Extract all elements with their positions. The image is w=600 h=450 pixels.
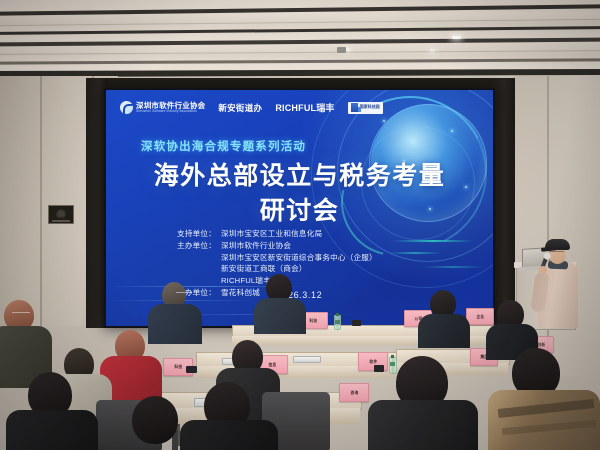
ssia-logo-cn: 深圳市软件行业协会 bbox=[136, 102, 205, 110]
audience-body bbox=[254, 298, 306, 334]
wall-seam bbox=[40, 76, 42, 326]
audience-body bbox=[368, 400, 478, 450]
ceiling-slat bbox=[0, 4, 600, 16]
name-card-text: 科技 bbox=[309, 318, 317, 324]
wall-speaker-fixture bbox=[48, 205, 74, 224]
slide-kicker: 深软协出海合规专题系列活动 bbox=[141, 138, 306, 154]
audience-body bbox=[6, 410, 98, 450]
speaker-glasses bbox=[549, 251, 564, 256]
ceiling-slat bbox=[0, 38, 600, 47]
logo-xinan-subdistrict: 新安街道办 bbox=[218, 102, 262, 114]
building-icon bbox=[351, 103, 358, 112]
speaker-grille-icon bbox=[56, 209, 66, 218]
wall-seam bbox=[547, 76, 549, 376]
ceiling-light bbox=[452, 36, 461, 39]
desk-device bbox=[352, 320, 361, 326]
logo-partner-badge: 国家科技园 bbox=[348, 102, 383, 114]
organizer-value: 深圳市宝安区工业和信息化局 bbox=[216, 228, 322, 240]
water-bottle bbox=[334, 315, 341, 330]
audience-body bbox=[418, 314, 470, 348]
ceiling bbox=[0, 0, 600, 78]
network-dot bbox=[383, 120, 385, 122]
name-card-text: 咨询 bbox=[350, 390, 358, 396]
slide-title-line2: 研讨会 bbox=[106, 191, 493, 227]
partner-badge-text: 国家科技园 bbox=[360, 105, 380, 109]
speaker-hand bbox=[539, 266, 547, 274]
audience-glasses bbox=[176, 292, 192, 297]
ceiling-seam bbox=[0, 19, 600, 26]
organizer-row: 主办单位： 新安街道工商联（商会） bbox=[164, 263, 464, 275]
organizer-row: 主办单位： 深圳市宝安区新安街道综合事务中心（企服） bbox=[164, 252, 464, 264]
desk-device bbox=[374, 365, 384, 372]
ceiling-slat bbox=[0, 58, 600, 64]
audience-body bbox=[148, 304, 202, 344]
network-dot bbox=[451, 130, 453, 132]
ceiling-seam bbox=[0, 50, 600, 55]
organizer-row: 主办单位： 深圳市软件行业协会 bbox=[164, 240, 464, 252]
audience-head bbox=[132, 396, 178, 444]
seminar-photo-scene: 深圳市软件行业协会 Shenzhen Software Industry Ass… bbox=[0, 0, 600, 450]
name-card-text: 信息 bbox=[268, 362, 276, 368]
audience-body bbox=[180, 420, 278, 450]
speaker-base bbox=[52, 220, 70, 222]
name-card[interactable]: 咨询 bbox=[339, 383, 369, 402]
organizer-label: 支持单位： bbox=[164, 228, 216, 240]
name-card-text: 企业 bbox=[476, 314, 484, 320]
audience-glasses bbox=[12, 312, 30, 318]
name-card[interactable]: 企业 bbox=[466, 308, 494, 325]
organizer-value: RICHFUL瑞丰 bbox=[216, 275, 271, 287]
organizer-value: 深圳市软件行业协会 bbox=[216, 240, 291, 252]
ssia-logo-en: Shenzhen Software Industry Association bbox=[136, 110, 205, 113]
organizer-value: 深圳市宝安区新安街道综合事务中心（企服） bbox=[216, 252, 377, 264]
organizer-row: 主办单位： RICHFUL瑞丰 bbox=[164, 275, 464, 287]
ceiling-slat bbox=[0, 26, 600, 35]
desk-device bbox=[186, 366, 197, 373]
ceiling-sensor bbox=[337, 47, 346, 53]
organizer-value: 新安街道工商联（商会） bbox=[216, 263, 307, 275]
slide-title-line1: 海外总部设立与税务考量 bbox=[106, 162, 493, 192]
name-card-text: 科技 bbox=[174, 364, 182, 370]
slide-logo-bar: 深圳市软件行业协会 Shenzhen Software Industry Ass… bbox=[120, 98, 483, 117]
logo-ssia: 深圳市软件行业协会 Shenzhen Software Industry Ass… bbox=[120, 101, 205, 114]
notebook bbox=[293, 356, 321, 363]
organizer-row: 支持单位： 深圳市宝安区工业和信息化局 bbox=[164, 228, 464, 240]
name-card-text: 创新 bbox=[537, 342, 545, 348]
organizer-list: 支持单位： 深圳市宝安区工业和信息化局 主办单位： 深圳市软件行业协会 主办单位… bbox=[164, 228, 464, 299]
ceiling-light bbox=[430, 49, 435, 52]
name-card-text: 软件 bbox=[369, 359, 377, 365]
ssia-swoosh-icon bbox=[120, 101, 133, 114]
logo-richful: RICHFUL瑞丰 bbox=[275, 101, 334, 114]
organizer-label: 主办单位： bbox=[164, 240, 216, 252]
water-bottle bbox=[389, 357, 397, 374]
